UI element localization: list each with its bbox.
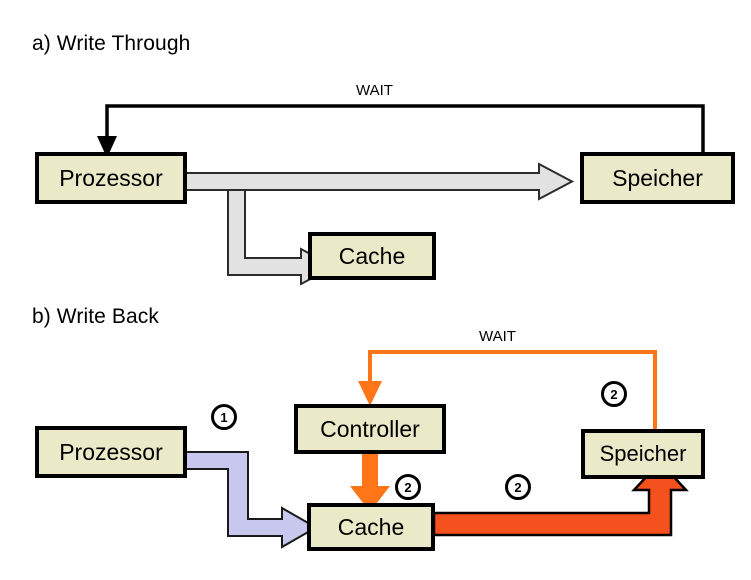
- node-memory-write-back[interactable]: Speicher: [581, 429, 705, 479]
- node-processor-write-back[interactable]: Prozessor: [35, 426, 187, 478]
- node-cache-write-back[interactable]: Cache: [307, 503, 435, 551]
- section-title-write-through: a) Write Through: [32, 32, 190, 56]
- step-badge-2-controller-cache: 2: [395, 474, 421, 500]
- node-controller-write-back[interactable]: Controller: [294, 404, 446, 454]
- diagram-canvas: a) Write Through WAIT Prozessor Speicher…: [0, 0, 751, 580]
- step-badge-2-memory-wait: 2: [601, 381, 627, 407]
- step-badge-2-cache-memory: 2: [505, 474, 531, 500]
- section-title-write-back: b) Write Back: [32, 305, 159, 329]
- node-processor-write-through[interactable]: Prozessor: [35, 152, 187, 204]
- step-badge-1-processor-cache: 1: [211, 404, 237, 430]
- node-memory-write-through[interactable]: Speicher: [580, 152, 735, 204]
- wait-label-write-back: WAIT: [479, 328, 516, 345]
- wait-label-write-through: WAIT: [356, 82, 393, 99]
- node-cache-write-through[interactable]: Cache: [308, 232, 436, 280]
